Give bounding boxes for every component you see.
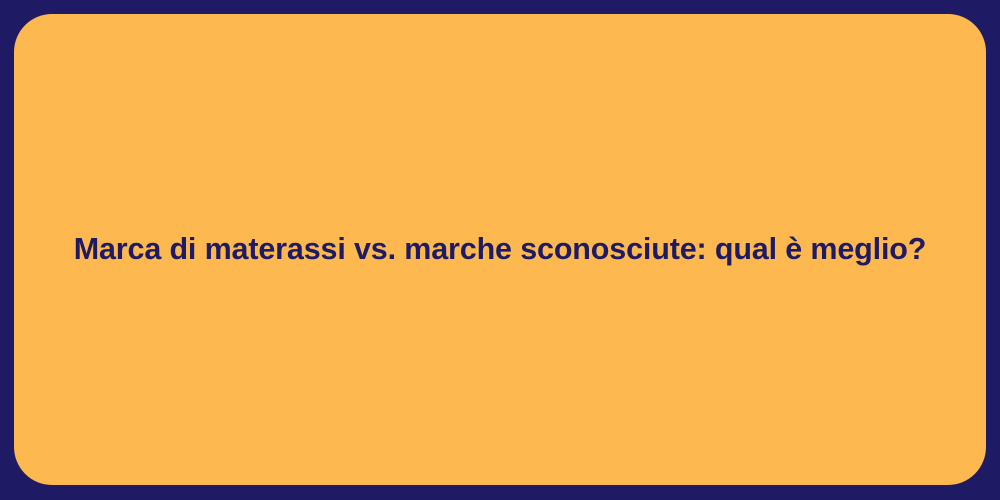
banner-title: Marca di materassi vs. marche sconosciut… — [74, 230, 927, 268]
banner-frame: Marca di materassi vs. marche sconosciut… — [0, 0, 1000, 500]
banner-card: Marca di materassi vs. marche sconosciut… — [14, 14, 986, 485]
